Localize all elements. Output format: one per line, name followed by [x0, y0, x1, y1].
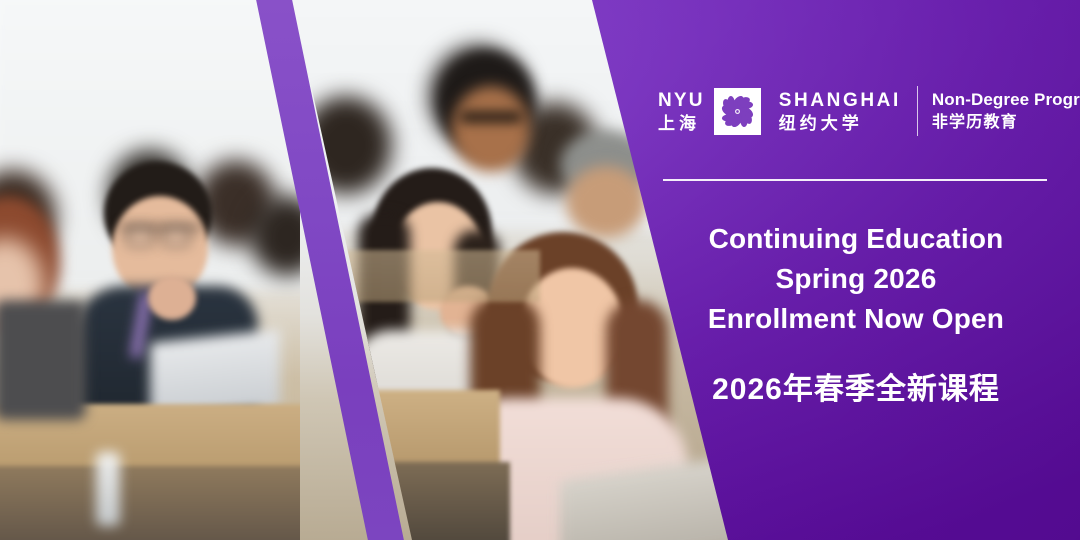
nyu-violet-flower-icon [719, 93, 756, 130]
nyu-english-text: NYU [658, 91, 705, 110]
chinese-subheadline: 2026年春季全新课程 [652, 364, 1068, 408]
shanghai-english-text: SHANGHAI [779, 91, 901, 110]
nyu-shanghai-logo[interactable]: NYU 上海 [658, 88, 901, 135]
headline-line-3: Enrollment Now Open [652, 299, 1060, 339]
logo-vertical-divider [917, 86, 918, 136]
shanghai-wordmark: SHANGHAI 纽约大学 [779, 91, 901, 132]
headline-line-2: Spring 2026 [652, 259, 1060, 299]
banner-content: NYU 上海 [640, 0, 1080, 540]
nyu-wordmark: NYU 上海 [658, 91, 705, 132]
photo-left-scene [0, 0, 300, 540]
program-tagline: Non-Degree Programs 非学历教育 [932, 91, 1080, 131]
logo-lockup: NYU 上海 [652, 86, 1068, 136]
promo-banner: NYU 上海 [0, 0, 1080, 540]
headline-block: Continuing Education Spring 2026 Enrollm… [652, 219, 1068, 338]
tagline-chinese: 非学历教育 [932, 115, 1018, 131]
photo-left-panel [0, 0, 300, 540]
headline-line-1: Continuing Education [652, 219, 1060, 259]
shanghai-chinese-text: 纽约大学 [779, 115, 863, 132]
tagline-english: Non-Degree Programs [932, 91, 1080, 108]
horizontal-divider [663, 179, 1047, 181]
violet-flower-emblem-box [714, 88, 761, 135]
nyu-chinese-text: 上海 [658, 115, 700, 132]
